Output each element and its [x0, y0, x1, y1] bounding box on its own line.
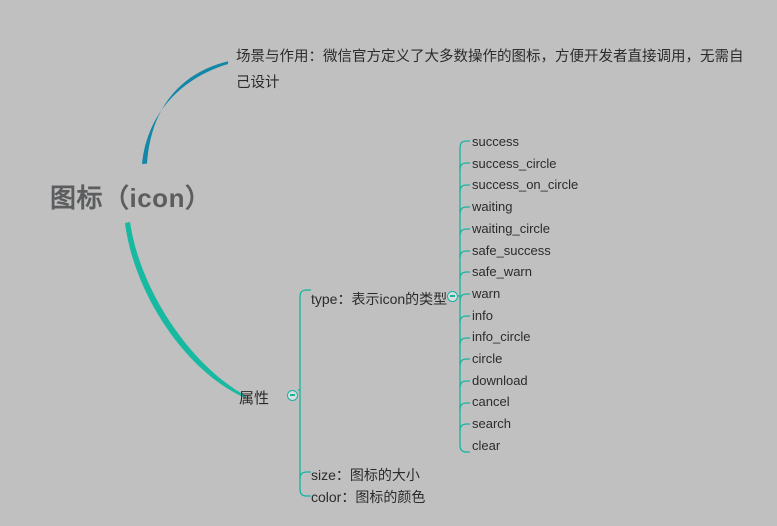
- icon-value-item[interactable]: search: [472, 416, 511, 432]
- node-type[interactable]: type：表示icon的类型: [311, 289, 447, 309]
- node-attributes[interactable]: 属性: [239, 387, 269, 408]
- icon-value-item[interactable]: safe_success: [472, 243, 551, 259]
- icon-value-item[interactable]: clear: [472, 438, 500, 454]
- icon-value-item[interactable]: success_on_circle: [472, 177, 578, 193]
- icon-value-item[interactable]: success: [472, 134, 519, 150]
- node-color[interactable]: color：图标的颜色: [311, 487, 425, 507]
- icon-value-item[interactable]: cancel: [472, 394, 510, 410]
- icon-value-item[interactable]: waiting: [472, 199, 512, 215]
- mindmap-canvas: 图标（icon） 场景与作用：微信官方定义了大多数操作的图标，方便开发者直接调用…: [0, 0, 777, 526]
- branch-curve-attributes: [125, 222, 246, 398]
- icon-value-item[interactable]: waiting_circle: [472, 221, 550, 237]
- collapse-toggle-type-icon[interactable]: [447, 291, 458, 302]
- icon-value-item[interactable]: safe_warn: [472, 264, 532, 280]
- icon-list-spine: [458, 141, 470, 452]
- summary-node[interactable]: 场景与作用：微信官方定义了大多数操作的图标，方便开发者直接调用，无需自己设计: [236, 44, 746, 96]
- branch-curve-summary: [142, 61, 228, 164]
- icon-value-item[interactable]: info_circle: [472, 329, 531, 345]
- icon-value-item[interactable]: warn: [472, 286, 500, 302]
- node-size[interactable]: size：图标的大小: [311, 465, 420, 485]
- root-node[interactable]: 图标（icon）: [50, 178, 211, 215]
- attributes-spine: [298, 290, 311, 496]
- icon-value-item[interactable]: success_circle: [472, 156, 557, 172]
- icon-value-item[interactable]: download: [472, 373, 528, 389]
- icon-value-item[interactable]: info: [472, 308, 493, 324]
- collapse-toggle-attributes-icon[interactable]: [287, 390, 298, 401]
- icon-value-item[interactable]: circle: [472, 351, 502, 367]
